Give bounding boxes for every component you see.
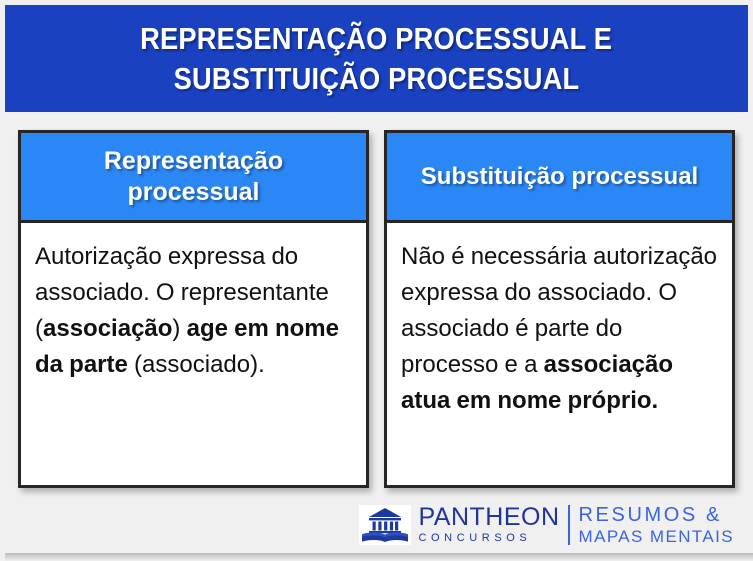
logo-divider	[568, 505, 570, 545]
pantheon-book-icon	[359, 505, 411, 545]
title-banner: REPRESENTAÇÃO PROCESSUAL E SUBSTITUIÇÃO …	[5, 5, 748, 112]
card-left-body: Autorização expressa do associado. O rep…	[21, 223, 366, 485]
title-line-2: SUBSTITUIÇÃO PROCESSUAL	[174, 59, 580, 99]
logo-brand: PANTHEON	[418, 505, 559, 530]
infographic-slide: REPRESENTAÇÃO PROCESSUAL E SUBSTITUIÇÃO …	[0, 0, 753, 561]
card-left-header-text: Representação processual	[104, 146, 283, 208]
card-substituicao-processual: Substituição processual Não é necessária…	[384, 130, 735, 488]
logo-brand-sub: CONCURSOS	[418, 531, 559, 546]
slide-drop-shadow	[5, 553, 753, 561]
footer: PANTHEON CONCURSOS RESUMOS & MAPAS MENTA…	[5, 495, 748, 555]
comparison-cards: Representação processual Autorização exp…	[5, 130, 748, 488]
logo-wordmark: PANTHEON CONCURSOS	[418, 505, 559, 546]
card-left-header: Representação processual	[21, 133, 366, 223]
card-right-text: Não é necessária autorização expressa do…	[401, 239, 718, 419]
card-right-header: Substituição processual	[387, 133, 732, 223]
logo-tagline: RESUMOS & MAPAS MENTAIS	[579, 504, 734, 547]
logo-tagline-line-2: MAPAS MENTAIS	[579, 527, 734, 547]
card-left-text: Autorização expressa do associado. O rep…	[35, 239, 352, 383]
card-left-header-line-1: Representação	[104, 147, 283, 175]
content-area: Representação processual Autorização exp…	[5, 112, 748, 555]
title-line-1: REPRESENTAÇÃO PROCESSUAL E	[141, 19, 613, 59]
card-left-header-line-2: processual	[127, 178, 259, 206]
card-representacao-processual: Representação processual Autorização exp…	[18, 130, 369, 488]
pantheon-logo: PANTHEON CONCURSOS RESUMOS & MAPAS MENTA…	[359, 502, 734, 548]
card-right-body: Não é necessária autorização expressa do…	[387, 223, 732, 485]
card-right-header-text: Substituição processual	[421, 161, 698, 192]
logo-tagline-line-1: RESUMOS &	[579, 504, 734, 526]
